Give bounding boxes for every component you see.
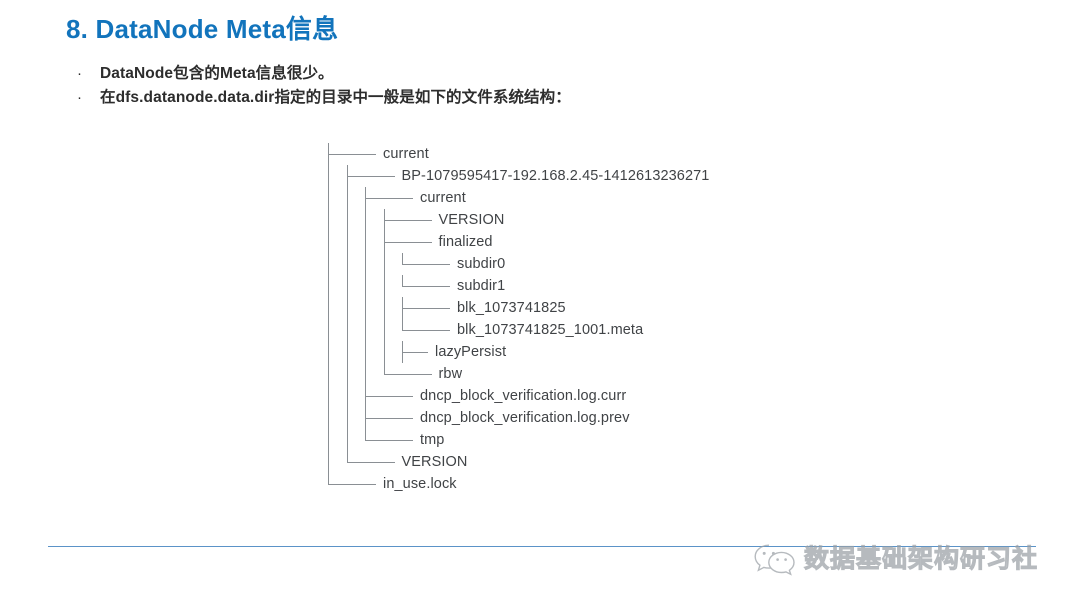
tree-connector-elbow-icon — [401, 275, 453, 297]
tree-guide-pipe-icon — [364, 231, 383, 253]
tree-node-label: rbw — [435, 363, 463, 385]
tree-node-label: blk_1073741825 — [453, 297, 566, 319]
tree-guide-pipe-icon — [327, 451, 346, 473]
tree-connector-tee-icon — [364, 407, 416, 429]
tree-row: VERSION — [327, 451, 709, 473]
bullet-item: ·DataNode包含的Meta信息很少。 — [72, 62, 972, 86]
tree-indent-guides — [327, 451, 346, 473]
tree-guide-pipe-icon — [364, 363, 383, 385]
watermark-label: 数据基础架构研习社 — [804, 547, 1038, 572]
tree-node-label: VERSION — [398, 451, 468, 473]
bullet-marker-icon: · — [72, 86, 100, 110]
bullet-list: ·DataNode包含的Meta信息很少。·在dfs.datanode.data… — [72, 62, 972, 110]
tree-guide-pipe-icon — [346, 231, 365, 253]
tree-node-label: tmp — [416, 429, 444, 451]
tree-guide-pipe-icon — [327, 231, 346, 253]
tree-guide-pipe-icon — [346, 253, 365, 275]
tree-connector-elbow-icon — [364, 429, 416, 451]
tree-guide-pipe-icon — [346, 319, 365, 341]
tree-guide-pipe-icon — [383, 253, 402, 275]
tree-guide-pipe-icon — [383, 275, 402, 297]
tree-row: finalized — [327, 231, 709, 253]
tree-guide-pipe-icon — [327, 385, 346, 407]
tree-indent-guides — [327, 363, 383, 385]
tree-guide-pipe-icon — [383, 319, 402, 341]
tree-row: current — [327, 143, 709, 165]
tree-node-label: lazyPersist — [431, 341, 506, 363]
tree-row: blk_1073741825 — [327, 297, 709, 319]
tree-connector-tee-icon — [401, 297, 453, 319]
tree-guide-pipe-icon — [327, 209, 346, 231]
tree-guide-pipe-icon — [364, 253, 383, 275]
tree-row: blk_1073741825_1001.meta — [327, 319, 709, 341]
tree-guide-pipe-icon — [346, 363, 365, 385]
tree-indent-guides — [327, 231, 383, 253]
tree-node-label: BP-1079595417-192.168.2.45-1412613236271 — [398, 165, 710, 187]
tree-guide-pipe-icon — [346, 297, 365, 319]
tree-connector-tee-icon — [364, 385, 416, 407]
tree-guide-pipe-icon — [327, 297, 346, 319]
tree-row: subdir1 — [327, 275, 709, 297]
tree-row: VERSION — [327, 209, 709, 231]
tree-guide-pipe-icon — [346, 275, 365, 297]
tree-row: current — [327, 187, 709, 209]
tree-row: tmp — [327, 429, 709, 451]
tree-indent-guides — [327, 297, 401, 319]
tree-indent-guides — [327, 341, 401, 363]
tree-indent-guides — [327, 209, 383, 231]
tree-row: subdir0 — [327, 253, 709, 275]
tree-guide-pipe-icon — [346, 385, 365, 407]
tree-guide-pipe-icon — [364, 209, 383, 231]
page-title: 8. DataNode Meta信息 — [66, 9, 338, 46]
bullet-marker-icon: · — [72, 62, 100, 86]
tree-guide-pipe-icon — [383, 297, 402, 319]
tree-guide-pipe-icon — [383, 341, 402, 363]
tree-indent-guides — [327, 429, 364, 451]
tree-node-label: VERSION — [435, 209, 505, 231]
watermark: 数据基础架构研习社 — [753, 542, 1038, 576]
tree-indent-guides — [327, 319, 401, 341]
tree-connector-elbow-icon — [401, 319, 453, 341]
tree-connector-tee-icon — [364, 187, 416, 209]
wechat-icon — [753, 542, 797, 576]
tree-guide-pipe-icon — [327, 429, 346, 451]
tree-guide-pipe-icon — [327, 319, 346, 341]
tree-row: dncp_block_verification.log.curr — [327, 385, 709, 407]
tree-guide-pipe-icon — [364, 319, 383, 341]
tree-row: rbw — [327, 363, 709, 385]
tree-guide-pipe-icon — [327, 165, 346, 187]
tree-node-label: current — [416, 187, 466, 209]
tree-guide-pipe-icon — [364, 341, 383, 363]
tree-connector-tee-icon — [383, 209, 435, 231]
tree-connector-elbow-icon — [327, 473, 379, 495]
tree-connector-elbow-icon — [346, 451, 398, 473]
tree-guide-pipe-icon — [346, 209, 365, 231]
tree-row: lazyPersist — [327, 341, 709, 363]
tree-node-label: subdir1 — [453, 275, 505, 297]
tree-indent-guides — [327, 275, 401, 297]
tree-guide-pipe-icon — [327, 363, 346, 385]
bullet-item: ·在dfs.datanode.data.dir指定的目录中一般是如下的文件系统结… — [72, 86, 972, 110]
tree-guide-pipe-icon — [346, 407, 365, 429]
tree-node-label: finalized — [435, 231, 493, 253]
tree-connector-elbow-icon — [401, 253, 453, 275]
tree-guide-pipe-icon — [327, 341, 346, 363]
tree-connector-elbow-icon — [383, 363, 435, 385]
tree-node-label: blk_1073741825_1001.meta — [453, 319, 643, 341]
tree-indent-guides — [327, 165, 346, 187]
tree-guide-pipe-icon — [327, 407, 346, 429]
tree-indent-guides — [327, 385, 364, 407]
tree-guide-pipe-icon — [327, 187, 346, 209]
tree-guide-pipe-icon — [364, 275, 383, 297]
tree-guide-pipe-icon — [346, 429, 365, 451]
tree-connector-tee-icon — [401, 341, 431, 363]
tree-connector-tee-icon — [383, 231, 435, 253]
tree-node-label: current — [379, 143, 429, 165]
tree-indent-guides — [327, 407, 364, 429]
bullet-item-label: 在dfs.datanode.data.dir指定的目录中一般是如下的文件系统结构… — [100, 86, 571, 110]
tree-row: BP-1079595417-192.168.2.45-1412613236271 — [327, 165, 709, 187]
tree-node-label: subdir0 — [453, 253, 505, 275]
tree-node-label: dncp_block_verification.log.prev — [416, 407, 630, 429]
tree-row: in_use.lock — [327, 473, 709, 495]
tree-row: dncp_block_verification.log.prev — [327, 407, 709, 429]
tree-guide-pipe-icon — [327, 275, 346, 297]
tree-node-label: dncp_block_verification.log.curr — [416, 385, 626, 407]
tree-connector-tee-icon — [327, 143, 379, 165]
bullet-item-label: DataNode包含的Meta信息很少。 — [100, 62, 334, 86]
tree-node-label: in_use.lock — [379, 473, 457, 495]
directory-tree: currentBP-1079595417-192.168.2.45-141261… — [327, 143, 709, 495]
tree-guide-pipe-icon — [327, 253, 346, 275]
tree-indent-guides — [327, 253, 401, 275]
tree-connector-tee-icon — [346, 165, 398, 187]
tree-indent-guides — [327, 187, 364, 209]
tree-guide-pipe-icon — [346, 187, 365, 209]
tree-guide-pipe-icon — [346, 341, 365, 363]
tree-guide-pipe-icon — [364, 297, 383, 319]
